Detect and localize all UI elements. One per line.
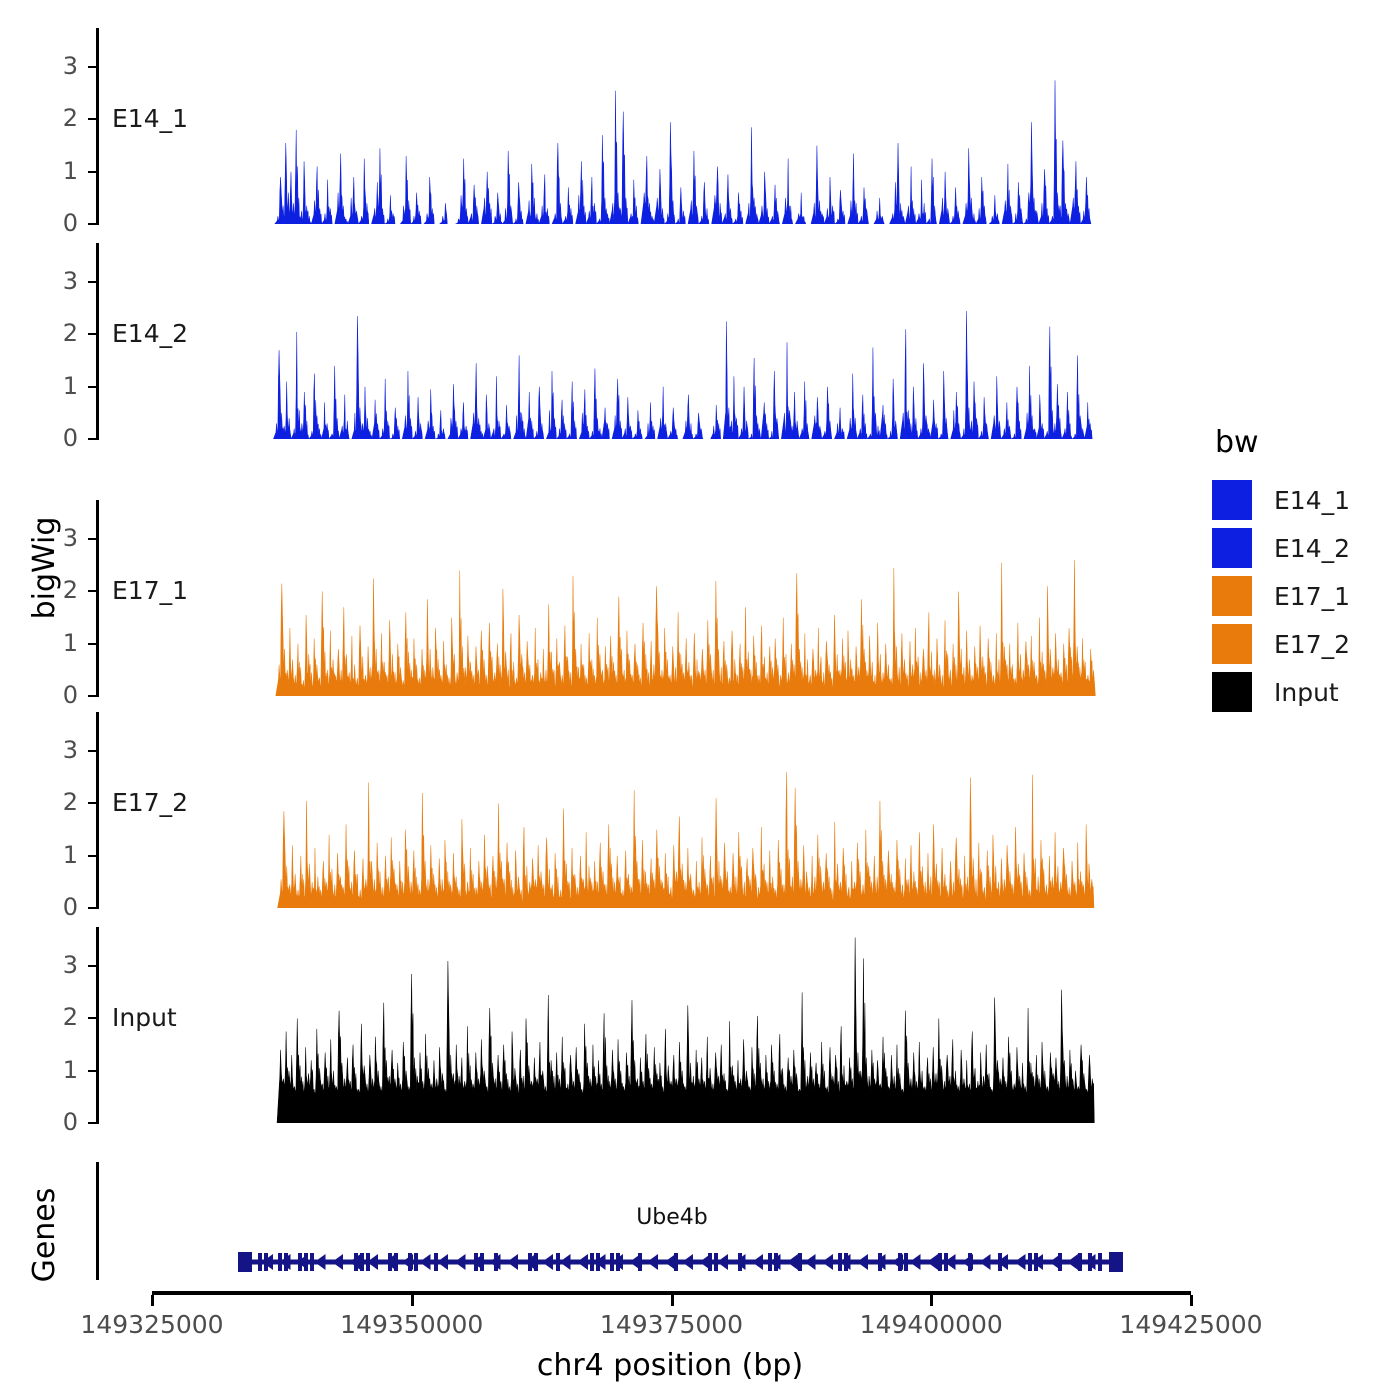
x-tick-label: 149350000 [292,1310,532,1339]
x-axis-title: chr4 position (bp) [300,1348,1040,1383]
y-axis-line-e17_1 [96,500,99,696]
x-tick-label: 149425000 [1071,1310,1311,1339]
y-axis-line-e14_2 [96,243,99,439]
y-tick [88,118,99,120]
legend-swatch-input [1212,672,1252,712]
y-tick [88,66,99,68]
track-label-e17_2: E17_2 [112,788,188,817]
legend-label-e17_1: E17_1 [1274,582,1350,611]
genes-axis-line [96,1162,99,1280]
y-tick-label: 0 [38,426,78,450]
y-tick-label: 1 [38,159,78,183]
gene-model-ube4b[interactable] [238,1246,1125,1278]
x-tick [671,1295,674,1306]
y-axis-line-input [96,927,99,1123]
y-tick-label: 0 [38,1110,78,1134]
y-tick-label: 3 [38,953,78,977]
legend-swatch-e17_2 [1212,624,1252,664]
legend-item-e17_2[interactable]: E17_2 [1212,620,1392,668]
y-tick-label: 1 [38,843,78,867]
y-tick-label: 3 [38,54,78,78]
y-tick [88,386,99,388]
x-tick [411,1295,414,1306]
signal-track-e14_2[interactable] [238,243,1125,439]
y-tick [88,1122,99,1124]
y-tick [88,438,99,440]
legend-item-e17_1[interactable]: E17_1 [1212,572,1392,620]
x-tick [1190,1295,1193,1306]
y-tick-label: 0 [38,211,78,235]
signal-track-input[interactable] [238,927,1125,1123]
y-tick [88,695,99,697]
y-axis-line-e14_1 [96,28,99,224]
legend-title: bw [1215,428,1392,458]
legend-item-e14_1[interactable]: E14_1 [1212,476,1392,524]
legend: bw E14_1E14_2E17_1E17_2Input [1212,428,1392,716]
y-tick [88,538,99,540]
y-tick-label: 1 [38,1058,78,1082]
x-tick [930,1295,933,1306]
track-label-e14_2: E14_2 [112,319,188,348]
legend-swatch-e14_1 [1212,480,1252,520]
y-tick [88,643,99,645]
legend-label-e14_2: E14_2 [1274,534,1350,563]
y-tick [88,223,99,225]
y-tick-label: 0 [38,683,78,707]
legend-label-e17_2: E17_2 [1274,630,1350,659]
x-tick [151,1295,154,1306]
legend-swatch-e17_1 [1212,576,1252,616]
y-axis-line-e17_2 [96,712,99,908]
y-tick [88,802,99,804]
gene-label: Ube4b [592,1205,752,1230]
track-label-input: Input [112,1003,177,1032]
y-tick [88,965,99,967]
y-tick-label: 2 [38,790,78,814]
legend-label-input: Input [1274,678,1339,707]
signal-track-e17_1[interactable] [238,500,1125,696]
y-axis-title: bigWig [25,468,65,668]
legend-item-input[interactable]: Input [1212,668,1392,716]
y-tick-label: 2 [38,321,78,345]
y-tick-label: 2 [38,106,78,130]
track-label-e14_1: E14_1 [112,104,188,133]
y-tick [88,1070,99,1072]
y-tick [88,1017,99,1019]
y-tick-label: 2 [38,1005,78,1029]
y-tick-label: 3 [38,269,78,293]
y-tick-label: 1 [38,374,78,398]
y-tick [88,750,99,752]
legend-items: E14_1E14_2E17_1E17_2Input [1212,476,1392,716]
signal-track-e14_1[interactable] [238,28,1125,224]
y-tick [88,590,99,592]
plot-stage: bigWig Genes 0123E14_10123E14_20123E17_1… [0,0,1400,1400]
y-tick [88,171,99,173]
y-tick [88,907,99,909]
y-tick [88,333,99,335]
legend-item-e14_2[interactable]: E14_2 [1212,524,1392,572]
x-tick-label: 149375000 [552,1310,792,1339]
x-tick-label: 149325000 [32,1310,272,1339]
y-tick [88,281,99,283]
legend-label-e14_1: E14_1 [1274,486,1350,515]
x-tick-label: 149400000 [811,1310,1051,1339]
y-tick-label: 3 [38,738,78,762]
track-label-e17_1: E17_1 [112,576,188,605]
y-tick [88,855,99,857]
legend-swatch-e14_2 [1212,528,1252,568]
y-tick-label: 0 [38,895,78,919]
signal-track-e17_2[interactable] [238,712,1125,908]
